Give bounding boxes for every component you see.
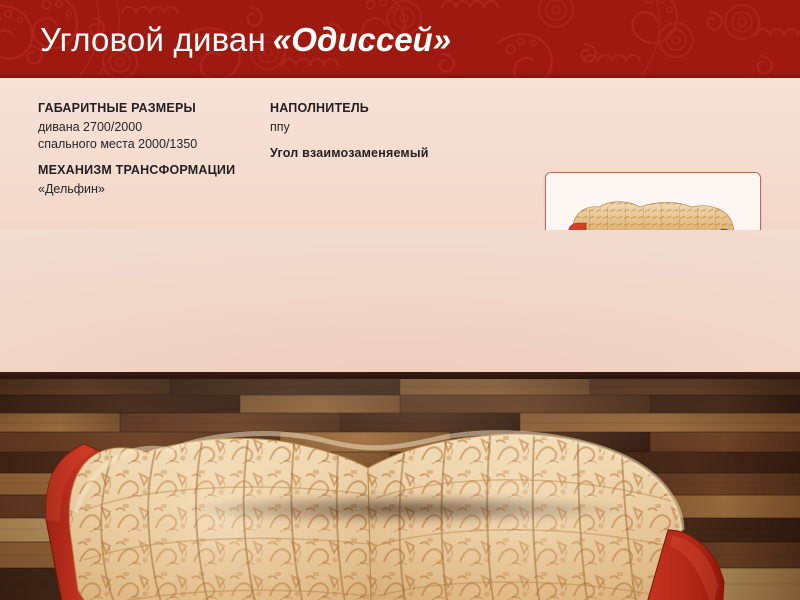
product-card-page: Угловой диван«Одиссей» ГАБАРИТНЫЕ РАЗМЕР… — [0, 0, 800, 600]
spec-value-sofa-size: дивана 2700/2000 — [38, 119, 253, 136]
product-photo — [0, 230, 800, 600]
page-title-light: Угловой диван — [40, 21, 266, 58]
spec-value-filler: ппу — [270, 119, 520, 136]
page-title: Угловой диван«Одиссей» — [40, 22, 451, 58]
spec-value-bed-size: спального места 2000/1350 — [38, 136, 253, 153]
corner-sofa-illustration — [0, 230, 800, 600]
page-title-model: «Одиссей» — [273, 21, 451, 58]
header-banner: Угловой диван«Одиссей» — [0, 0, 800, 78]
spec-value-mechanism: «Дельфин» — [38, 181, 253, 198]
spec-heading-dimensions: ГАБАРИТНЫЕ РАЗМЕРЫ — [38, 100, 253, 116]
specification-section: ГАБАРИТНЫЕ РАЗМЕРЫ дивана 2700/2000 спал… — [0, 78, 800, 230]
sofa-vector — [0, 230, 800, 600]
spec-heading-mechanism: МЕХАНИЗМ ТРАНСФОРМАЦИИ — [38, 162, 253, 178]
sofa-shadow — [96, 488, 716, 530]
spec-note-interchangeable-corner: Угол взаимозаменяемый — [270, 145, 520, 161]
spec-column-filler: НАПОЛНИТЕЛЬ ппу Угол взаимозаменяемый — [270, 100, 520, 161]
spec-heading-filler: НАПОЛНИТЕЛЬ — [270, 100, 520, 116]
spec-column-dimensions: ГАБАРИТНЫЕ РАЗМЕРЫ дивана 2700/2000 спал… — [38, 100, 253, 198]
